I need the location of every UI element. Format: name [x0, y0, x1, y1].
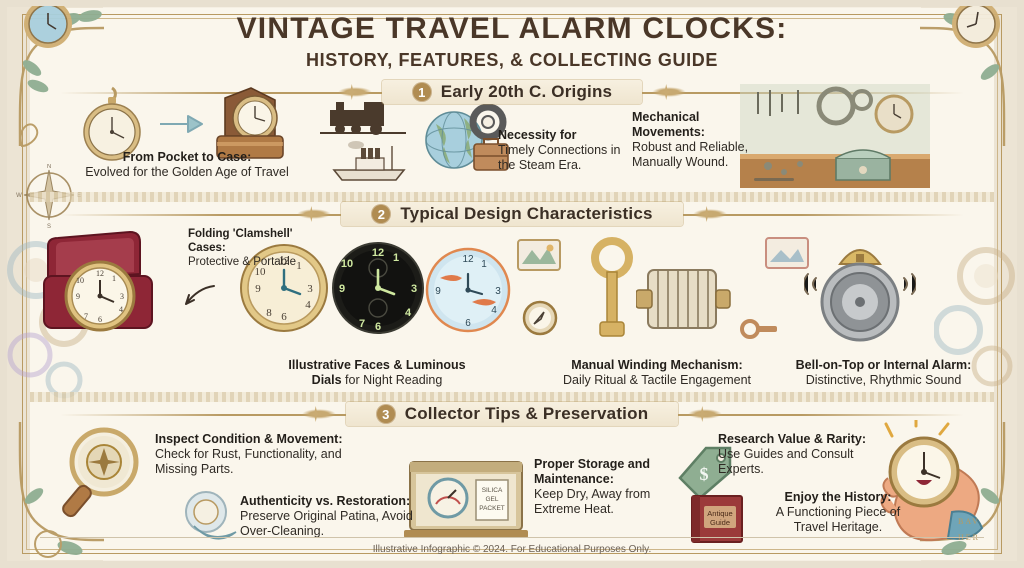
callout-illustrative-faces-text: for Night Reading: [345, 373, 442, 387]
infographic-poster: N S E W VINTAGE TRAVEL ALARM CLOCKS: HIS…: [0, 0, 1024, 568]
svg-text:6: 6: [375, 321, 381, 333]
svg-text:10: 10: [341, 258, 353, 270]
winding-key-icon: [582, 236, 642, 346]
compass-label-w: W: [16, 193, 22, 199]
callout-pocket-to-case-title: From Pocket to Case:: [123, 150, 252, 164]
silica-label-line1: SILICA: [482, 487, 503, 494]
svg-text:1: 1: [112, 274, 116, 283]
callout-enjoy-history: Enjoy the History: A Functioning Piece o…: [758, 490, 918, 535]
aviation-illustrated-dial-icon: 123 69 14: [424, 246, 512, 334]
compass-small-icon: [522, 300, 558, 336]
silica-label-line3: PACKET: [479, 505, 505, 512]
callout-mechanical-movements-title: Mechanical Movements:: [632, 110, 705, 139]
svg-text:3: 3: [495, 286, 501, 297]
mainspring-barrel-icon: [636, 262, 732, 338]
svg-text:3: 3: [120, 292, 124, 301]
callout-timely-connections-title: Necessity for: [498, 128, 577, 142]
section-plate-1: 1 Early 20th C. Origins: [382, 80, 642, 104]
callout-authenticity-restoration-title: Authenticity vs. Restoration:: [240, 494, 410, 508]
callout-bell-alarm-text: Distinctive, Rhythmic Sound: [806, 373, 962, 387]
svg-text:12: 12: [462, 254, 474, 265]
callout-inspect-condition-title: Inspect Condition & Movement:: [155, 432, 343, 446]
svg-text:1: 1: [393, 252, 399, 264]
clock-key-small-icon: [740, 316, 780, 342]
callout-authenticity-restoration-text: Preserve Original Patina, Avoid Over-Cle…: [240, 509, 413, 538]
guide-label-line2: Guide: [710, 518, 730, 527]
svg-text:7: 7: [84, 312, 88, 321]
evolution-arrow-icon: [158, 112, 204, 136]
guide-label-line1: Antique: [707, 509, 732, 518]
compass-label-n: N: [47, 164, 51, 170]
callout-enjoy-history-title: Enjoy the History:: [785, 490, 892, 504]
section-plate-3: 3 Collector Tips & Preservation: [346, 402, 679, 426]
svg-text:6: 6: [281, 311, 287, 323]
svg-text:10: 10: [76, 276, 84, 285]
callout-inspect-condition-text: Check for Rust, Functionality, and Missi…: [155, 447, 342, 476]
svg-text:12: 12: [372, 247, 384, 259]
callout-research-value-title: Research Value & Rarity:: [718, 432, 866, 446]
section-number-2: 2: [371, 204, 391, 224]
callout-research-value-text: Use Guides and Consult Experts.: [718, 447, 854, 476]
section-title-2: Typical Design Characteristics: [400, 204, 652, 224]
clamshell-case-icon: 123 69 14 710: [36, 228, 176, 344]
footer-credit: Illustrative Infographic © 2024. For Edu…: [0, 544, 1024, 555]
magnifier-icon: [52, 424, 156, 520]
svg-text:4: 4: [405, 307, 412, 319]
svg-text:3: 3: [411, 283, 417, 295]
callout-timely-connections: Necessity for Timely Connections in the …: [498, 128, 623, 173]
svg-text:6: 6: [98, 315, 102, 324]
callout-bell-alarm-title: Bell-on-Top or Internal Alarm:: [796, 358, 972, 372]
svg-text:4: 4: [491, 305, 497, 316]
banner-diamond-right-2: [693, 209, 727, 219]
callout-proper-storage-title: Proper Storage and Maintenance:: [534, 457, 650, 486]
callout-manual-winding-text: Daily Ritual & Tactile Engagement: [563, 373, 751, 387]
svg-text:1: 1: [481, 259, 487, 270]
svg-text:6: 6: [465, 318, 471, 329]
callout-illustrative-faces: Illustrative Faces & Luminous Dials for …: [272, 358, 482, 388]
callout-mechanical-movements-text: Robust and Reliable, Manually Wound.: [632, 140, 748, 169]
bell-on-top-clock-icon: [804, 234, 916, 346]
watermark-line1: BAV: [958, 517, 980, 526]
callout-research-value: Research Value & Rarity: Use Guides and …: [718, 432, 888, 477]
banner-diamond-left-1: [338, 87, 372, 97]
section-banner-2: 2 Typical Design Characteristics: [0, 200, 1024, 228]
callout-clamshell-cases-title: Folding 'Clamshell' Cases:: [188, 228, 293, 254]
callout-mechanical-movements: Mechanical Movements: Robust and Reliabl…: [632, 110, 772, 170]
banner-diamond-right-1: [652, 87, 686, 97]
section-number-1: 1: [412, 82, 432, 102]
banner-diamond-left-2: [297, 209, 331, 219]
svg-text:7: 7: [359, 318, 365, 330]
polishing-cloth-icon: [176, 488, 246, 550]
svg-text:4: 4: [119, 305, 123, 314]
callout-authenticity-restoration: Authenticity vs. Restoration: Preserve O…: [240, 494, 440, 539]
svg-text:3: 3: [307, 283, 313, 295]
footer-rule: [40, 537, 984, 538]
callout-inspect-condition: Inspect Condition & Movement: Check for …: [155, 432, 345, 477]
callout-timely-connections-text: Timely Connections in the Steam Era.: [498, 143, 621, 172]
callout-manual-winding-title: Manual Winding Mechanism:: [571, 358, 742, 372]
antique-guide-book-icon: Antique Guide: [686, 492, 752, 548]
luminous-black-dial-icon: 123 69 14 710: [330, 240, 426, 336]
svg-text:9: 9: [435, 286, 441, 297]
page-subtitle: HISTORY, FEATURES, & COLLECTING GUIDE: [0, 50, 1024, 71]
svg-text:12: 12: [96, 269, 104, 278]
silica-label-line2: GEL: [485, 496, 498, 503]
banner-diamond-left-3: [302, 409, 336, 419]
section-title-1: Early 20th C. Origins: [441, 82, 612, 102]
steam-ship-icon: [328, 140, 412, 182]
banner-diamond-right-3: [688, 409, 722, 419]
callout-clamshell-cases: Folding 'Clamshell' Cases: Protective & …: [188, 228, 318, 269]
price-tag-symbol: $: [700, 464, 709, 484]
section-title-3: Collector Tips & Preservation: [405, 404, 649, 424]
section-plate-2: 2 Typical Design Characteristics: [341, 202, 682, 226]
svg-text:9: 9: [76, 292, 80, 301]
callout-enjoy-history-text: A Functioning Piece of Travel Heritage.: [776, 505, 900, 534]
clamshell-pointer-arrow-icon: [178, 282, 218, 312]
svg-text:4: 4: [305, 299, 311, 311]
callout-proper-storage-text: Keep Dry, Away from Extreme Heat.: [534, 487, 650, 516]
callout-pocket-to-case-text: Evolved for the Golden Age of Travel: [85, 165, 289, 179]
svg-text:9: 9: [255, 283, 261, 295]
svg-text:8: 8: [266, 307, 272, 319]
section-number-3: 3: [376, 404, 396, 424]
landscape-stamp-icon: [516, 238, 562, 272]
callout-bell-alarm: Bell-on-Top or Internal Alarm: Distincti…: [776, 358, 991, 388]
callout-manual-winding: Manual Winding Mechanism: Daily Ritual &…: [552, 358, 762, 388]
callout-clamshell-cases-text: Protective & Portable: [188, 256, 296, 268]
page-title: VINTAGE TRAVEL ALARM CLOCKS:: [0, 12, 1024, 46]
svg-text:9: 9: [339, 283, 345, 295]
callout-pocket-to-case: From Pocket to Case: Evolved for the Gol…: [72, 150, 302, 180]
callout-proper-storage: Proper Storage and Maintenance: Keep Dry…: [534, 457, 669, 517]
